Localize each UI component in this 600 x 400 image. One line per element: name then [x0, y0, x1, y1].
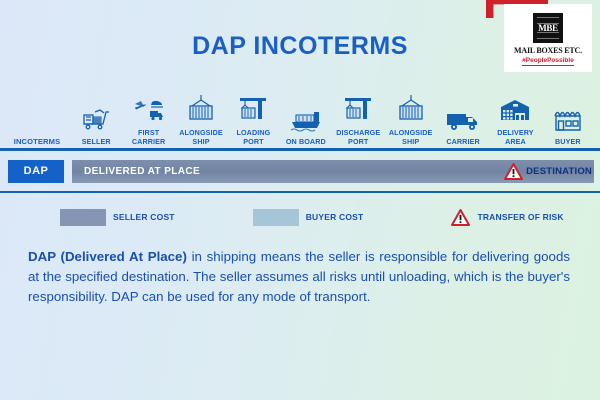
warning-triangle-icon [451, 209, 470, 226]
stage-loading-port: LOADING PORT [227, 80, 279, 146]
hoisted-container-icon [393, 91, 429, 125]
truck-icon [444, 100, 482, 134]
hoisted-container-icon [183, 91, 219, 125]
stage-carrier: CARRIER [437, 80, 489, 146]
incoterm-cost-bar: DELIVERED AT PLACE DESTINATION [72, 160, 594, 183]
mbe-logo-mark: MBE [533, 13, 563, 43]
shop-icon [552, 100, 584, 134]
stage-row: INCOTERMS SELLER [0, 80, 600, 148]
incoterms-row-label: INCOTERMS [4, 80, 70, 146]
destination-marker: DESTINATION [504, 163, 592, 180]
legend-label: SELLER COST [113, 212, 175, 222]
port-crane-icon [235, 91, 271, 125]
stage-label: DISCHARGE PORT [332, 128, 384, 146]
buyer-cost-swatch [253, 209, 299, 226]
warning-triangle-icon [504, 163, 523, 180]
stage-label: ALONGSIDE SHIP [384, 128, 436, 146]
stage-label: DELIVERY AREA [489, 128, 541, 146]
stage-label: ON BOARD [286, 137, 326, 146]
header: DAP INCOTERMS MBE MAIL BOXES ETC. #Peopl… [0, 0, 600, 80]
legend-label: TRANSFER OF RISK [477, 212, 563, 222]
stage-label: SELLER [82, 137, 111, 146]
legend: SELLER COST BUYER COST TRANSFER OF RISK [0, 193, 600, 241]
legend-label: BUYER COST [306, 212, 364, 222]
stage-buyer: BUYER [542, 80, 594, 146]
brand-logo: MBE MAIL BOXES ETC. #PeoplePossible [504, 4, 592, 72]
destination-label: DESTINATION [526, 166, 592, 177]
incoterm-bar-row: DAP DELIVERED AT PLACE DESTINATION [0, 151, 600, 191]
port-crane-icon [340, 91, 376, 125]
seller-cost-swatch [60, 209, 106, 226]
stage-label: ALONGSIDE SHIP [175, 128, 227, 146]
description-lead: DAP (Delivered At Place) [28, 249, 187, 264]
stage-label: CARRIER [446, 137, 479, 146]
stage-alongside-ship-import: ALONGSIDE SHIP [384, 80, 436, 146]
warehouse-cart-icon [79, 100, 113, 134]
stage-label: LOADING PORT [227, 128, 279, 146]
multimodal-transport-icon [132, 91, 166, 125]
stage-first-carrier: FIRST CARRIER [122, 80, 174, 146]
legend-item-transfer-of-risk: TRANSFER OF RISK [451, 209, 563, 226]
stage-on-board: ON BOARD [280, 80, 332, 146]
cargo-ship-icon [288, 100, 324, 134]
stage-label: BUYER [555, 137, 581, 146]
stage-discharge-port: DISCHARGE PORT [332, 80, 384, 146]
mbe-logo-mark-text: MBE [538, 23, 558, 33]
stage-seller: SELLER [70, 80, 122, 146]
stage-delivery-area: DELIVERY AREA [489, 80, 541, 146]
incoterm-code-badge: DAP [8, 160, 64, 183]
incoterms-label-text: INCOTERMS [14, 137, 60, 146]
stage-label: FIRST CARRIER [122, 128, 174, 146]
warehouse-icon [497, 91, 533, 125]
brand-name: MAIL BOXES ETC. [514, 46, 582, 55]
legend-item-seller-cost: SELLER COST [60, 209, 175, 226]
stage-alongside-ship-export: ALONGSIDE SHIP [175, 80, 227, 146]
legend-item-buyer-cost: BUYER COST [253, 209, 364, 226]
brand-tagline: #PeoplePossible [522, 57, 574, 66]
incoterm-name: DELIVERED AT PLACE [84, 166, 200, 177]
description-paragraph: DAP (Delivered At Place) in shipping mea… [0, 241, 600, 308]
